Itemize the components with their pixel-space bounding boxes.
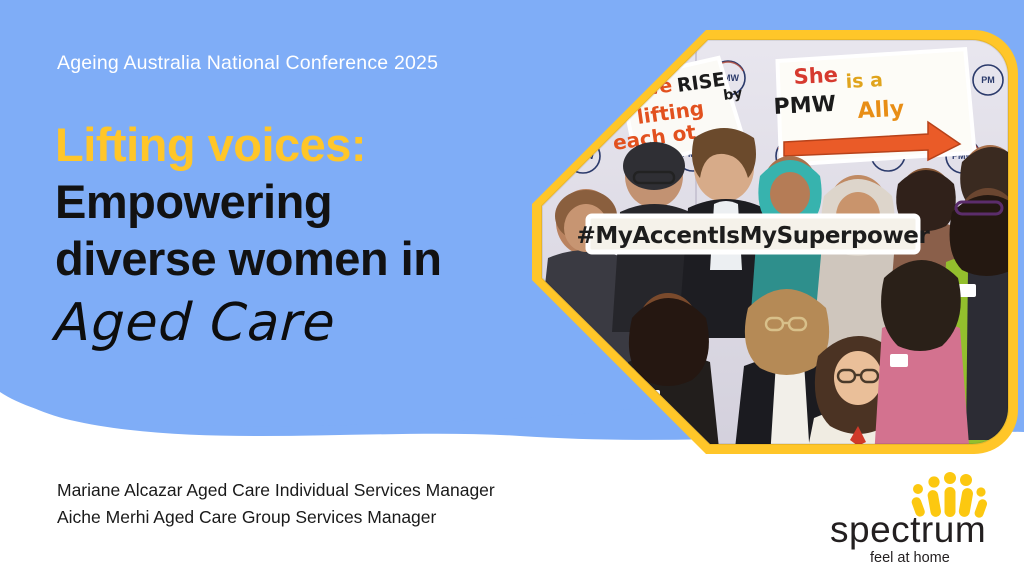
svg-text:Ally: Ally	[857, 97, 905, 124]
presenter-1: Mariane Alcazar Aged Care Individual Ser…	[57, 477, 495, 504]
svg-text:PMW: PMW	[612, 76, 635, 86]
title-line-3: diverse women in	[55, 230, 575, 287]
svg-text:PM: PM	[981, 75, 995, 85]
event-photo: PMWPMW PMWPMW PM PMWPMW PMWPMW PMW PMWPM…	[528, 26, 1020, 458]
spectrum-logo: spectrum feel at home	[822, 466, 997, 561]
presentation-slide: Ageing Australia National Conference 202…	[0, 0, 1024, 572]
presenter-2: Aiche Merhi Aged Care Group Services Man…	[57, 504, 495, 531]
title-line-script: Aged Care	[53, 287, 577, 359]
svg-text:PMW: PMW	[773, 92, 837, 120]
spectrum-wordmark: spectrum	[830, 510, 986, 550]
title-line-2: Empowering	[55, 173, 575, 230]
svg-text:by: by	[722, 85, 743, 104]
page-title: Lifting voices: Empowering diverse women…	[55, 116, 575, 359]
sign-my-accent: #MyAccentIsMySuperpower	[577, 216, 931, 252]
presenter-list: Mariane Alcazar Aged Care Individual Ser…	[57, 477, 495, 531]
title-line-accent: Lifting voices:	[55, 116, 575, 173]
svg-text:#MyAccentIsMySuperpower: #MyAccentIsMySuperpower	[577, 223, 931, 249]
photo-content: PMWPMW PMWPMW PM PMWPMW PMWPMW PMW PMWPM…	[528, 26, 1020, 458]
spectrum-tagline: feel at home	[870, 550, 950, 566]
sign-pmw-ally: She is a PMW Ally	[773, 49, 975, 165]
svg-text:is a: is a	[845, 69, 883, 93]
conference-name: Ageing Australia National Conference 202…	[57, 52, 438, 75]
event-photo-graphic: PMWPMW PMWPMW PM PMWPMW PMWPMW PMW PMWPM…	[528, 26, 1020, 458]
svg-text:She: She	[793, 63, 839, 89]
